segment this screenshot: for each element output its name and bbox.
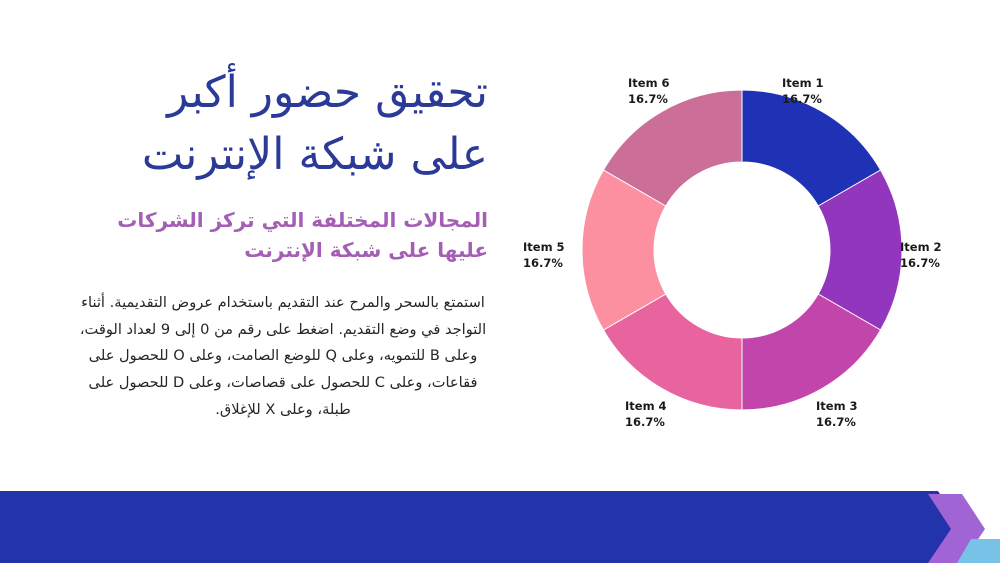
donut-label-item-1-name: Item 1 xyxy=(782,76,824,90)
donut-label-item-3: Item 3 16.7% xyxy=(816,398,858,431)
donut-label-item-3-value: 16.7% xyxy=(816,414,858,430)
donut-label-item-6-name: Item 6 xyxy=(628,76,670,90)
donut-label-item-5: Item 5 16.7% xyxy=(523,239,565,272)
donut-chart: Item 1 16.7% Item 2 16.7% Item 3 16.7% I… xyxy=(505,45,995,455)
donut-label-item-2-name: Item 2 xyxy=(900,240,942,254)
text-column: تحقيق حضور أكبر على شبكة الإنترنت المجال… xyxy=(78,62,488,424)
donut-slice-group xyxy=(582,90,902,410)
donut-label-item-6: Item 6 16.7% xyxy=(628,75,670,108)
slide-body-text: استمتع بالسحر والمرح عند التقديم باستخدا… xyxy=(78,290,488,424)
donut-label-item-5-name: Item 5 xyxy=(523,240,565,254)
chevron-purple-icon xyxy=(928,494,985,563)
donut-label-item-2-value: 16.7% xyxy=(900,255,942,271)
bottom-blue-bar xyxy=(0,491,962,563)
donut-label-item-3-name: Item 3 xyxy=(816,399,858,413)
donut-label-item-2: Item 2 16.7% xyxy=(900,239,942,272)
page-title: تحقيق حضور أكبر على شبكة الإنترنت xyxy=(78,62,488,187)
donut-label-item-5-value: 16.7% xyxy=(523,255,565,271)
donut-label-item-4-name: Item 4 xyxy=(625,399,667,413)
donut-label-item-4-value: 16.7% xyxy=(625,414,667,430)
donut-label-item-1: Item 1 16.7% xyxy=(782,75,824,108)
donut-label-item-4: Item 4 16.7% xyxy=(625,398,667,431)
presentation-slide: تحقيق حضور أكبر على شبكة الإنترنت المجال… xyxy=(0,0,1000,563)
donut-label-item-6-value: 16.7% xyxy=(628,91,670,107)
donut-label-item-1-value: 16.7% xyxy=(782,91,824,107)
bottom-decoration xyxy=(0,473,1000,563)
chevron-lightblue-icon xyxy=(957,539,1000,563)
slide-subtitle: المجالات المختلفة التي تركز الشركات عليه… xyxy=(78,205,488,266)
